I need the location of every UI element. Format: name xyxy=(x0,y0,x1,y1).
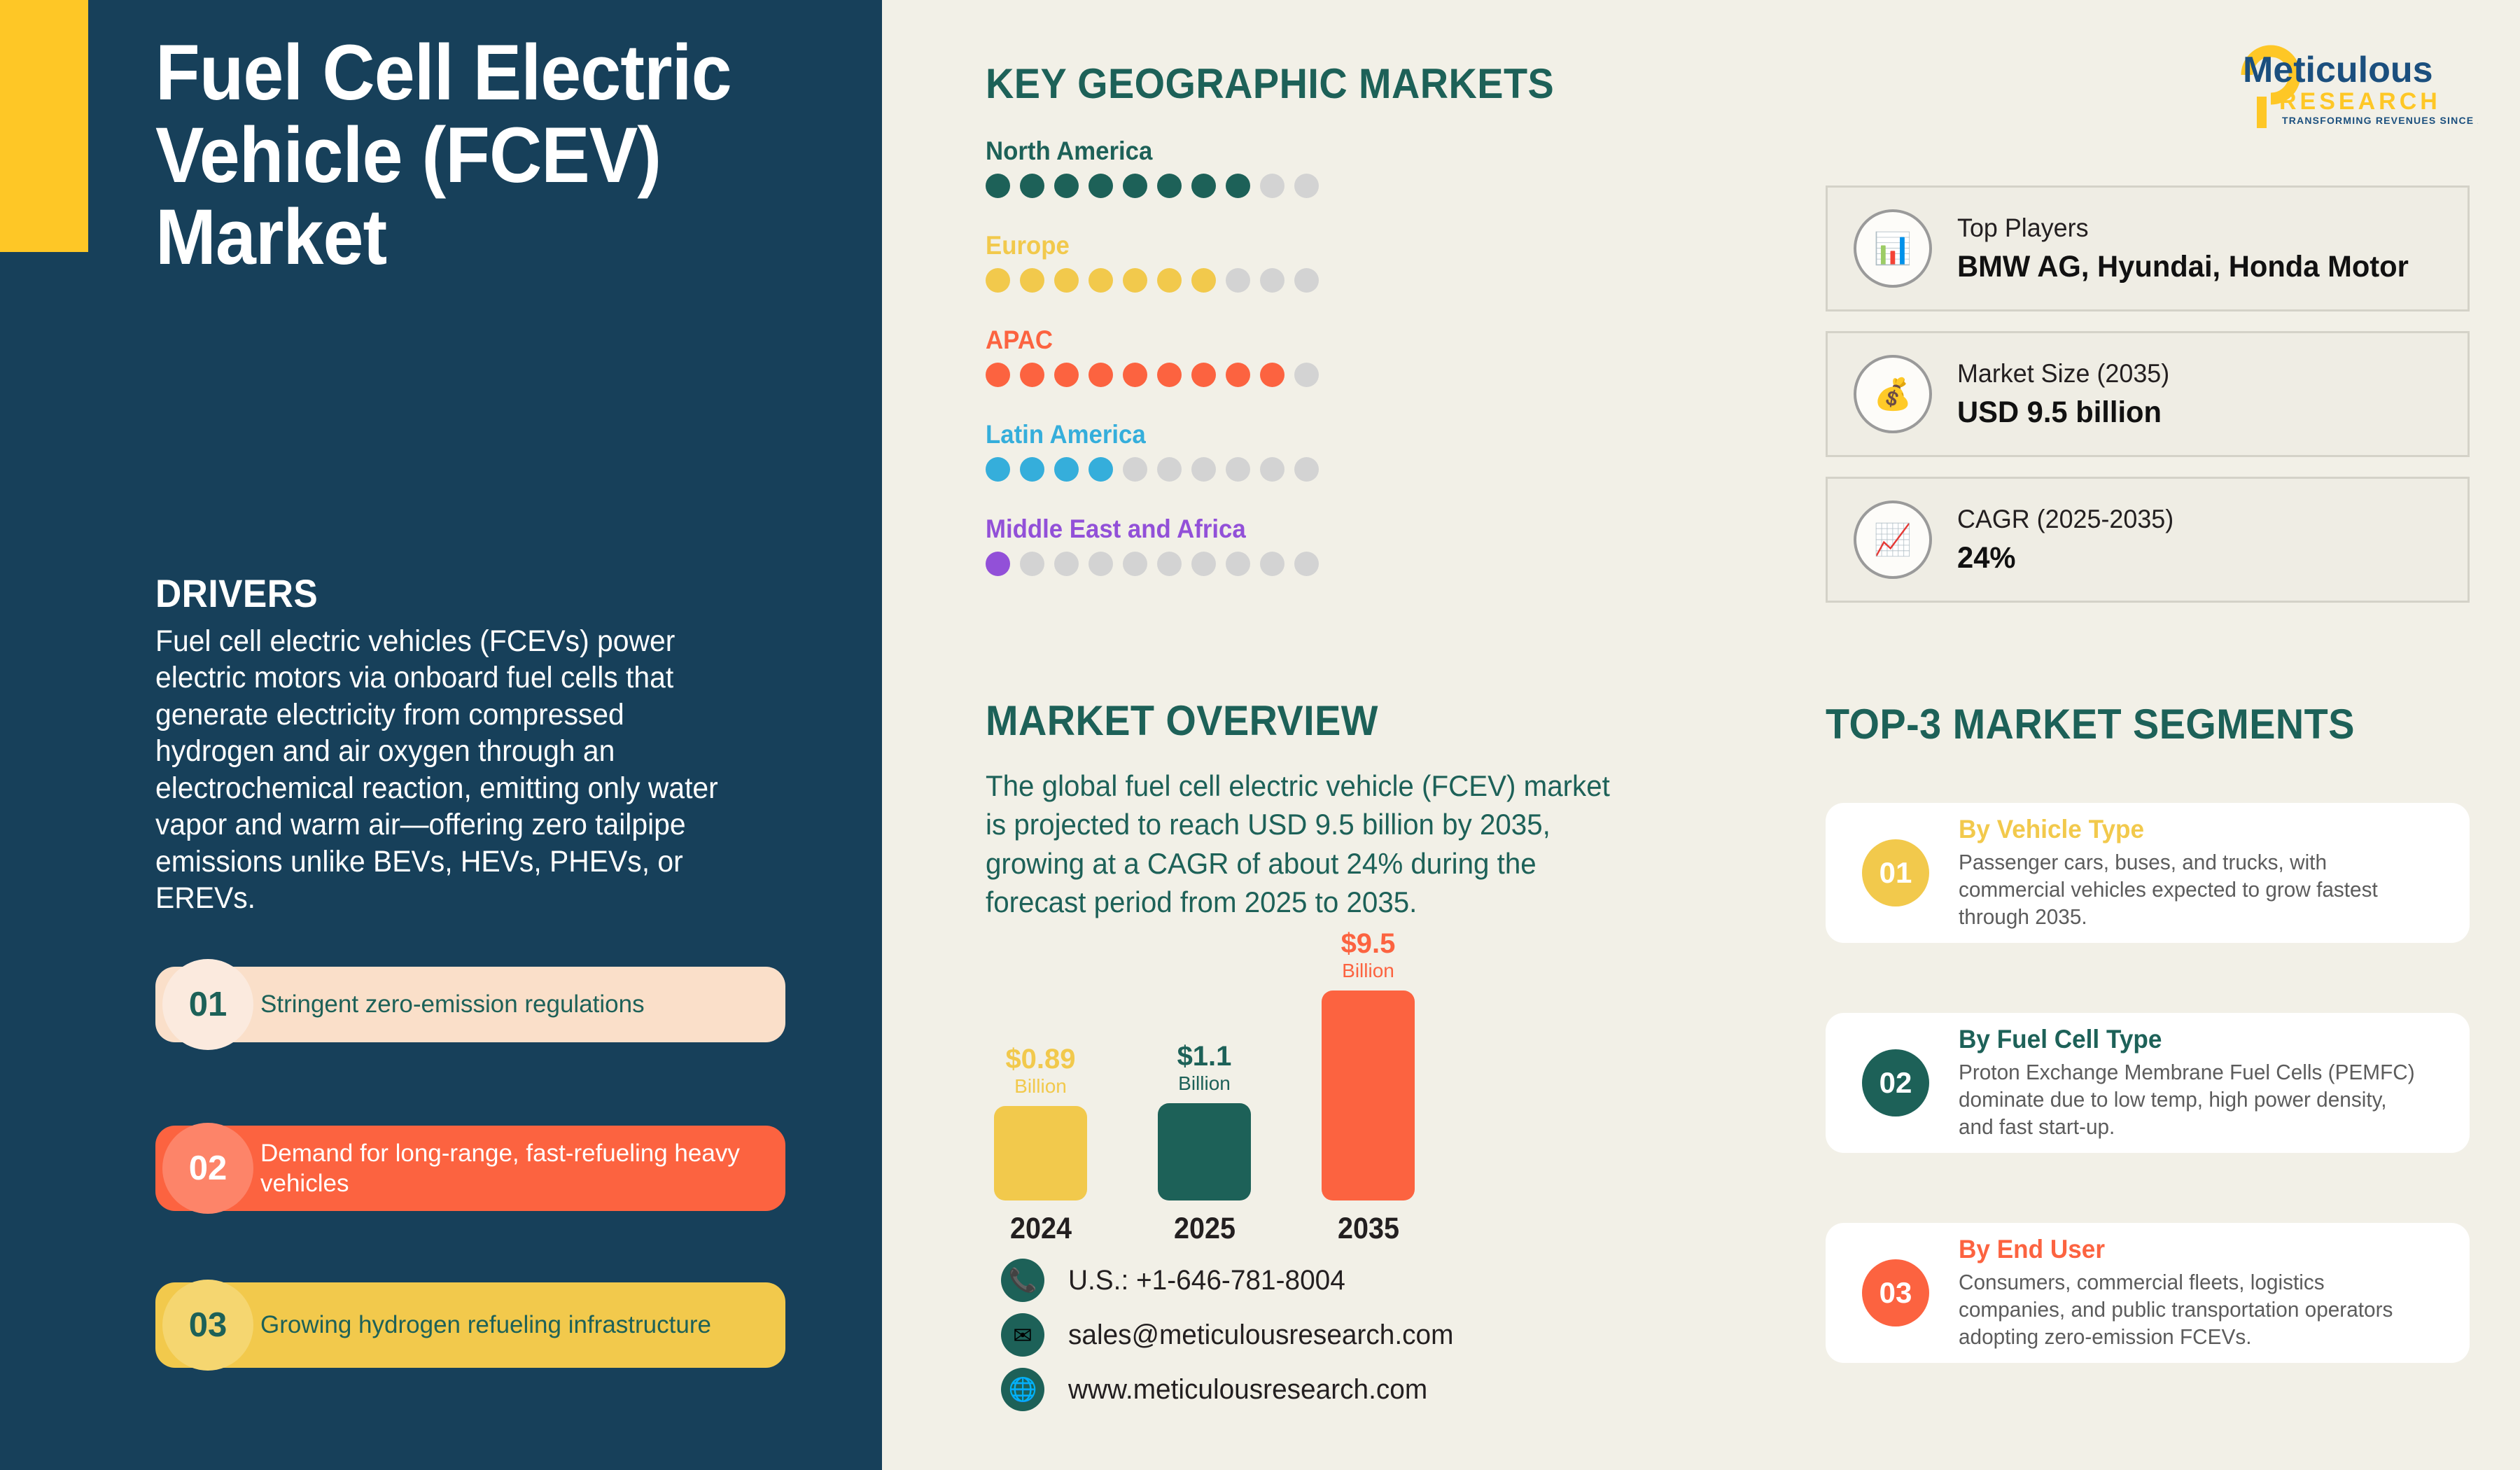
bar-category-label: 2035 xyxy=(1304,1212,1433,1246)
market-overview-body: The global fuel cell electric vehicle (F… xyxy=(986,766,1624,922)
geo-dot-filled xyxy=(1020,457,1044,482)
contact-list: 📞U.S.: +1-646-781-8004✉sales@meticulousr… xyxy=(1001,1253,1465,1417)
segment-description: Proton Exchange Membrane Fuel Cells (PEM… xyxy=(1959,1059,2425,1140)
geo-dot-row xyxy=(986,363,1319,387)
contact-text[interactable]: sales@meticulousresearch.com xyxy=(1068,1319,1453,1351)
segment-body: By End User Consumers, commercial fleets… xyxy=(1959,1235,2470,1350)
contact-text[interactable]: U.S.: +1-646-781-8004 xyxy=(1068,1265,1345,1296)
contact-row[interactable]: 📞U.S.: +1-646-781-8004 xyxy=(1001,1253,1465,1308)
geo-dot-filled xyxy=(1088,268,1113,293)
geo-dot-empty xyxy=(1260,552,1284,576)
geo-dot-empty xyxy=(1157,552,1182,576)
geo-region-1: Europe xyxy=(986,231,1319,293)
bar-value-number: $0.89 xyxy=(1005,1044,1075,1074)
geo-dot-row xyxy=(986,268,1319,293)
stat-label: Top Players xyxy=(1957,212,2409,244)
bar-value-number: $9.5 xyxy=(1341,928,1396,959)
left-panel: Fuel Cell Electric Vehicle (FCEV) Market… xyxy=(0,0,882,1470)
geo-region-label: APAC xyxy=(986,325,1298,355)
trend-up-icon: 📈 xyxy=(1854,500,1932,579)
geo-region-label: Middle East and Africa xyxy=(986,514,1298,544)
geo-dot-filled xyxy=(1123,363,1147,387)
drivers-description: Fuel cell electric vehicles (FCEVs) powe… xyxy=(155,623,734,917)
geo-dot-filled xyxy=(1191,363,1216,387)
geo-dot-filled xyxy=(986,552,1010,576)
bar-value-unit: Billion xyxy=(1298,961,1438,981)
globe-icon: 🌐 xyxy=(1001,1368,1044,1411)
bar-value-unit: Billion xyxy=(971,1077,1111,1096)
bar-category-label: 2025 xyxy=(1140,1212,1269,1246)
geo-region-label: North America xyxy=(986,136,1298,166)
meticulous-research-logo: Meticulous RESEARCH TRANSFORMING REVENUE… xyxy=(2212,38,2478,129)
driver-number-wrap: 03 xyxy=(155,1282,260,1368)
driver-number-wrap: 02 xyxy=(155,1126,260,1211)
email-icon: ✉ xyxy=(1001,1313,1044,1357)
stat-label: CAGR (2025-2035) xyxy=(1957,503,2173,535)
svg-text:Meticulous: Meticulous xyxy=(2243,50,2433,90)
segment-card-02: 02 By Fuel Cell Type Proton Exchange Mem… xyxy=(1826,1013,2470,1153)
geo-dot-filled xyxy=(1054,363,1079,387)
geo-dot-filled xyxy=(1260,363,1284,387)
geo-dot-row xyxy=(986,174,1319,198)
stat-value: USD 9.5 billion xyxy=(1957,395,2169,431)
infographic-page: Fuel Cell Electric Vehicle (FCEV) Market… xyxy=(0,0,2520,1470)
driver-card-01: 01 Stringent zero-emission regulations xyxy=(155,967,785,1042)
geo-dot-empty xyxy=(1157,457,1182,482)
segment-body: By Vehicle Type Passenger cars, buses, a… xyxy=(1959,815,2470,930)
bar-value-unit: Billion xyxy=(1135,1074,1275,1093)
geo-dot-filled xyxy=(986,363,1010,387)
driver-number: 03 xyxy=(189,1305,227,1345)
geographic-markets-title: KEY GEOGRAPHIC MARKETS xyxy=(986,59,1554,108)
driver-number-wrap: 01 xyxy=(155,967,260,1042)
geo-dot-filled xyxy=(1054,457,1079,482)
geo-dot-empty xyxy=(1260,457,1284,482)
geo-dot-row xyxy=(986,457,1319,482)
geo-dot-empty xyxy=(1191,457,1216,482)
geo-dot-filled xyxy=(1157,174,1182,198)
geo-dot-empty xyxy=(1294,552,1319,576)
contact-text[interactable]: www.meticulousresearch.com xyxy=(1068,1374,1427,1406)
geo-dot-filled xyxy=(1157,268,1182,293)
geo-region-label: Latin America xyxy=(986,420,1298,449)
market-overview-title: MARKET OVERVIEW xyxy=(986,696,1378,745)
geo-region-4: Middle East and Africa xyxy=(986,514,1319,576)
geo-dot-filled xyxy=(986,174,1010,198)
stat-card-top-players: 📊 Top Players BMW AG, Hyundai, Honda Mot… xyxy=(1826,185,2470,311)
geo-dot-empty xyxy=(1294,457,1319,482)
contact-row[interactable]: ✉sales@meticulousresearch.com xyxy=(1001,1308,1465,1362)
geo-dot-empty xyxy=(1226,457,1250,482)
driver-number: 01 xyxy=(189,985,227,1024)
stat-text: CAGR (2025-2035) 24% xyxy=(1957,503,2180,577)
bar-value-label: $0.89Billion xyxy=(971,1045,1111,1096)
segment-card-03: 03 By End User Consumers, commercial fle… xyxy=(1826,1223,2470,1363)
geo-dot-filled xyxy=(1020,174,1044,198)
geo-dot-filled xyxy=(1191,268,1216,293)
geo-dot-filled xyxy=(1088,363,1113,387)
stat-value: 24% xyxy=(1957,540,2173,577)
driver-card-02: 02 Demand for long-range, fast-refueling… xyxy=(155,1126,785,1211)
geo-region-0: North America xyxy=(986,136,1319,198)
market-size-bar-chart: $0.89Billion2024$1.1Billion2025$9.5Billi… xyxy=(994,948,1526,1242)
stat-value: BMW AG, Hyundai, Honda Motor xyxy=(1957,249,2409,286)
geo-dot-row xyxy=(986,552,1319,576)
stat-label: Market Size (2035) xyxy=(1957,358,2169,390)
geo-dot-filled xyxy=(986,457,1010,482)
segment-number: 03 xyxy=(1862,1259,1929,1326)
bar-rect xyxy=(1158,1103,1251,1200)
geo-dot-filled xyxy=(1088,174,1113,198)
geo-dot-filled xyxy=(1020,363,1044,387)
stat-text: Top Players BMW AG, Hyundai, Honda Motor xyxy=(1957,212,2423,286)
segment-description: Consumers, commercial fleets, logistics … xyxy=(1959,1269,2425,1350)
geo-dot-filled xyxy=(1226,174,1250,198)
geo-dot-filled xyxy=(1088,457,1113,482)
geo-region-2: APAC xyxy=(986,325,1319,387)
geo-dot-filled xyxy=(1226,363,1250,387)
geo-dot-empty xyxy=(1260,268,1284,293)
segment-heading: By Vehicle Type xyxy=(1959,815,2420,844)
phone-icon: 📞 xyxy=(1001,1259,1044,1302)
geo-dot-empty xyxy=(1020,552,1044,576)
driver-text: Growing hydrogen refueling infrastructur… xyxy=(260,1310,732,1340)
geo-region-3: Latin America xyxy=(986,420,1319,482)
bar-rect xyxy=(994,1106,1087,1200)
bar-rect xyxy=(1322,990,1415,1200)
geo-dot-empty xyxy=(1123,457,1147,482)
drivers-heading: DRIVERS xyxy=(155,570,318,616)
stat-text: Market Size (2035) USD 9.5 billion xyxy=(1957,358,2176,431)
segment-description: Passenger cars, buses, and trucks, with … xyxy=(1959,849,2425,930)
geo-dot-filled xyxy=(986,268,1010,293)
driver-text: Stringent zero-emission regulations xyxy=(260,989,666,1019)
segment-heading: By Fuel Cell Type xyxy=(1959,1025,2420,1054)
geo-dot-empty xyxy=(1294,268,1319,293)
geo-dot-filled xyxy=(1191,174,1216,198)
svg-text:TRANSFORMING REVENUES SINCE: TRANSFORMING REVENUES SINCE 2010 xyxy=(2282,115,2478,126)
bar-category-label: 2024 xyxy=(976,1212,1105,1246)
geo-dot-filled xyxy=(1123,268,1147,293)
geo-dot-empty xyxy=(1054,552,1079,576)
geo-dot-empty xyxy=(1191,552,1216,576)
geo-dot-filled xyxy=(1157,363,1182,387)
driver-card-03: 03 Growing hydrogen refueling infrastruc… xyxy=(155,1282,785,1368)
geo-dot-empty xyxy=(1088,552,1113,576)
geo-dot-empty xyxy=(1294,174,1319,198)
segment-number: 02 xyxy=(1862,1049,1929,1116)
bar-value-label: $9.5Billion xyxy=(1298,930,1438,981)
market-segments-title: TOP-3 MARKET SEGMENTS xyxy=(1826,700,2355,748)
geo-dot-filled xyxy=(1054,268,1079,293)
geo-dot-filled xyxy=(1020,268,1044,293)
geo-dot-filled xyxy=(1123,174,1147,198)
geo-dot-empty xyxy=(1260,174,1284,198)
segment-body: By Fuel Cell Type Proton Exchange Membra… xyxy=(1959,1025,2470,1140)
geo-dot-empty xyxy=(1226,268,1250,293)
bar-chart-icon: 📊 xyxy=(1854,209,1932,288)
geo-dot-empty xyxy=(1226,552,1250,576)
geo-dot-empty xyxy=(1294,363,1319,387)
yellow-accent-bar xyxy=(0,0,88,252)
segment-heading: By End User xyxy=(1959,1235,2420,1264)
driver-text: Demand for long-range, fast-refueling he… xyxy=(260,1138,785,1199)
bar-value-label: $1.1Billion xyxy=(1135,1042,1275,1093)
driver-number: 02 xyxy=(189,1149,227,1188)
segment-card-01: 01 By Vehicle Type Passenger cars, buses… xyxy=(1826,803,2470,943)
svg-text:RESEARCH: RESEARCH xyxy=(2279,88,2441,115)
bar-value-number: $1.1 xyxy=(1177,1041,1232,1072)
stat-card-market-size: 💰 Market Size (2035) USD 9.5 billion xyxy=(1826,331,2470,457)
geo-dot-empty xyxy=(1123,552,1147,576)
segment-number: 01 xyxy=(1862,839,1929,906)
geo-region-label: Europe xyxy=(986,231,1298,260)
money-bag-icon: 💰 xyxy=(1854,355,1932,433)
contact-row[interactable]: 🌐www.meticulousresearch.com xyxy=(1001,1362,1465,1417)
geo-dot-filled xyxy=(1054,174,1079,198)
page-title: Fuel Cell Electric Vehicle (FCEV) Market xyxy=(155,31,741,279)
stat-card-cagr: 📈 CAGR (2025-2035) 24% xyxy=(1826,477,2470,603)
